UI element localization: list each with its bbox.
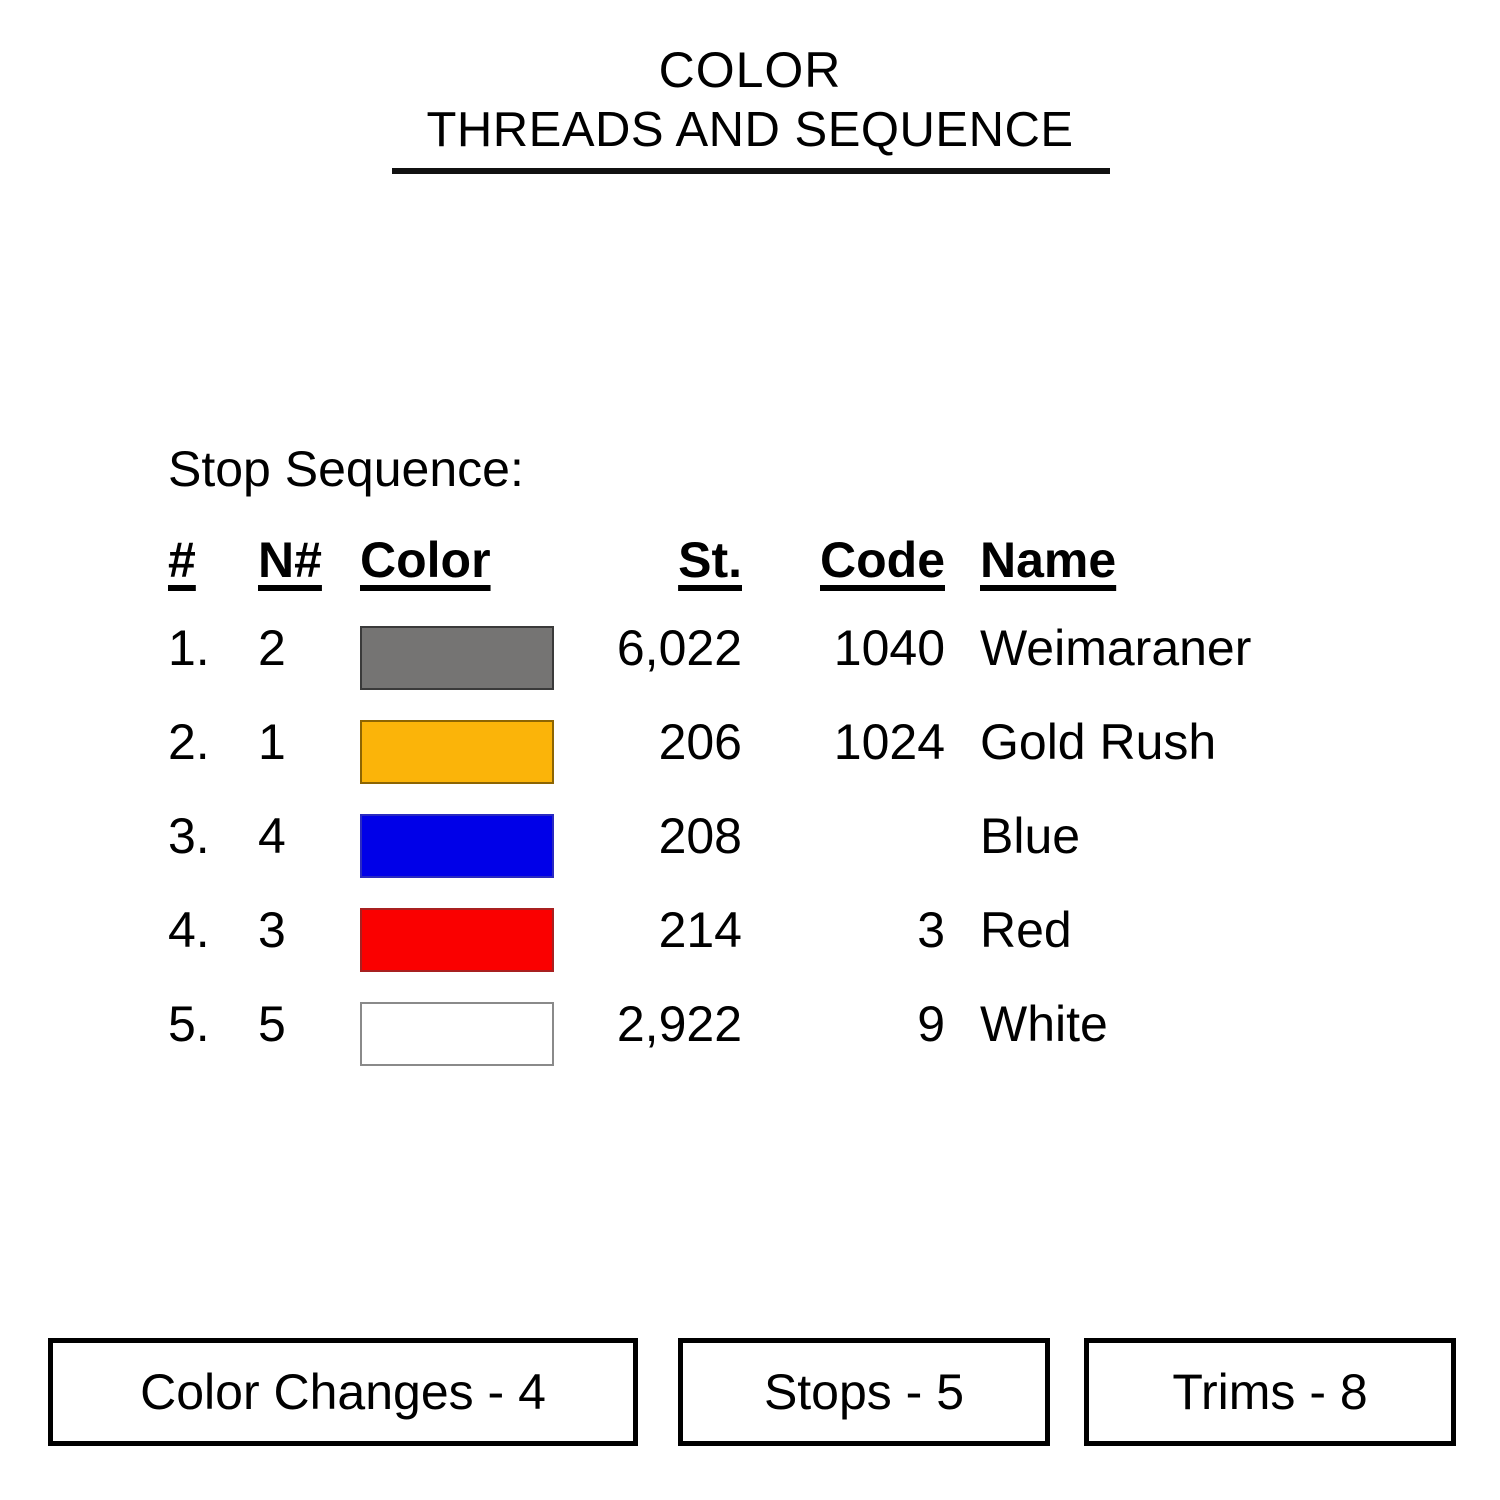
page-subtitle: THREADS AND SEQUENCE	[0, 102, 1500, 158]
row-stitches: 2,922	[550, 994, 742, 1054]
color-swatch	[360, 720, 554, 784]
table-row: 4. 3 214 3 Red	[160, 900, 1380, 994]
row-stitches: 208	[550, 806, 742, 866]
thread-sequence-table: # N# Color St. Code Name 1. 2 6,022 1040…	[160, 530, 1380, 1088]
color-swatch-cell	[360, 626, 554, 690]
color-swatch	[360, 1002, 554, 1066]
row-code: 1040	[760, 618, 945, 678]
summary-boxes: Color Changes - 4 Stops - 5 Trims - 8	[0, 1338, 1500, 1450]
table-row: 1. 2 6,022 1040 Weimaraner	[160, 618, 1380, 712]
table-row: 2. 1 206 1024 Gold Rush	[160, 712, 1380, 806]
row-name: Weimaraner	[980, 618, 1251, 678]
row-stitches: 206	[550, 712, 742, 772]
row-num: 1.	[168, 618, 210, 678]
stops-label: Stops - 5	[764, 1364, 964, 1420]
row-num: 2.	[168, 712, 210, 772]
column-header-num: #	[168, 530, 196, 590]
row-num: 5.	[168, 994, 210, 1054]
row-stitches: 6,022	[550, 618, 742, 678]
table-row: 3. 4 208 Blue	[160, 806, 1380, 900]
table-header-row: # N# Color St. Code Name	[160, 530, 1380, 618]
trims-label: Trims - 8	[1172, 1364, 1367, 1420]
color-swatch	[360, 908, 554, 972]
row-stitches: 214	[550, 900, 742, 960]
table-row: 5. 5 2,922 9 White	[160, 994, 1380, 1088]
color-swatch-cell	[360, 908, 554, 972]
row-needle: 5	[258, 994, 286, 1054]
row-code: 3	[760, 900, 945, 960]
column-header-name: Name	[980, 530, 1116, 590]
row-code: 1024	[760, 712, 945, 772]
color-swatch	[360, 626, 554, 690]
column-header-code: Code	[760, 530, 945, 590]
title-underline-rule	[392, 168, 1110, 174]
row-needle: 3	[258, 900, 286, 960]
column-header-stitches: St.	[550, 530, 742, 590]
page-header: COLOR THREADS AND SEQUENCE	[0, 42, 1500, 158]
summary-box-stops: Stops - 5	[678, 1338, 1050, 1446]
color-changes-label: Color Changes - 4	[140, 1364, 546, 1420]
row-needle: 4	[258, 806, 286, 866]
page-title: COLOR	[0, 42, 1500, 98]
column-header-color: Color	[360, 530, 491, 590]
summary-box-color-changes: Color Changes - 4	[48, 1338, 638, 1446]
summary-box-trims: Trims - 8	[1084, 1338, 1456, 1446]
row-name: White	[980, 994, 1108, 1054]
color-swatch-cell	[360, 814, 554, 878]
color-swatch-cell	[360, 720, 554, 784]
row-name: Red	[980, 900, 1072, 960]
row-needle: 1	[258, 712, 286, 772]
row-name: Gold Rush	[980, 712, 1216, 772]
row-name: Blue	[980, 806, 1080, 866]
column-header-needle: N#	[258, 530, 322, 590]
row-code: 9	[760, 994, 945, 1054]
color-swatch	[360, 814, 554, 878]
stop-sequence-label: Stop Sequence:	[168, 440, 524, 498]
row-num: 3.	[168, 806, 210, 866]
row-needle: 2	[258, 618, 286, 678]
color-swatch-cell	[360, 1002, 554, 1066]
row-num: 4.	[168, 900, 210, 960]
